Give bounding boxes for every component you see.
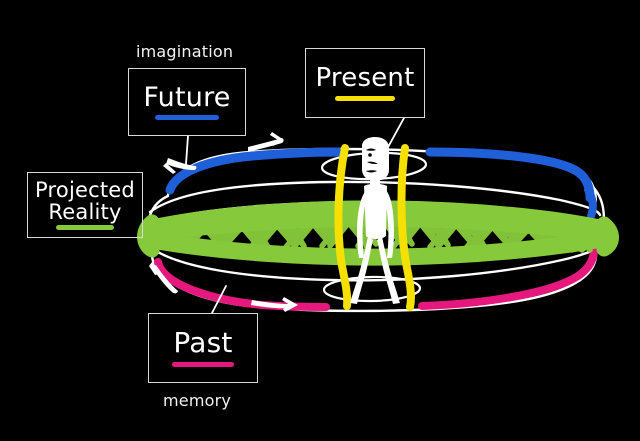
label-past: Past bbox=[173, 329, 232, 358]
connector-future bbox=[186, 136, 188, 164]
accent-underline-past bbox=[172, 362, 234, 367]
past-band-left bbox=[158, 262, 326, 307]
label-box-past[interactable]: Past bbox=[148, 313, 258, 383]
label-projected-reality: Projected Reality bbox=[35, 180, 135, 223]
accent-underline-future bbox=[155, 115, 219, 120]
figure-head bbox=[362, 137, 389, 181]
label-box-present[interactable]: Present bbox=[305, 48, 425, 118]
label-future: Future bbox=[143, 84, 230, 112]
diagram-canvas: imagination Future Present Projected Rea… bbox=[0, 0, 640, 441]
accent-underline-present bbox=[335, 96, 395, 101]
caption-imagination: imagination bbox=[136, 42, 233, 61]
label-box-future[interactable]: Future bbox=[128, 68, 246, 136]
standing-figure bbox=[350, 137, 400, 304]
label-box-projected-reality[interactable]: Projected Reality bbox=[27, 172, 143, 238]
arrow-future-right bbox=[248, 132, 284, 152]
accent-underline-projected bbox=[56, 225, 114, 230]
caption-memory: memory bbox=[163, 391, 231, 410]
label-present: Present bbox=[316, 65, 415, 92]
future-band-right-cap bbox=[588, 190, 593, 216]
